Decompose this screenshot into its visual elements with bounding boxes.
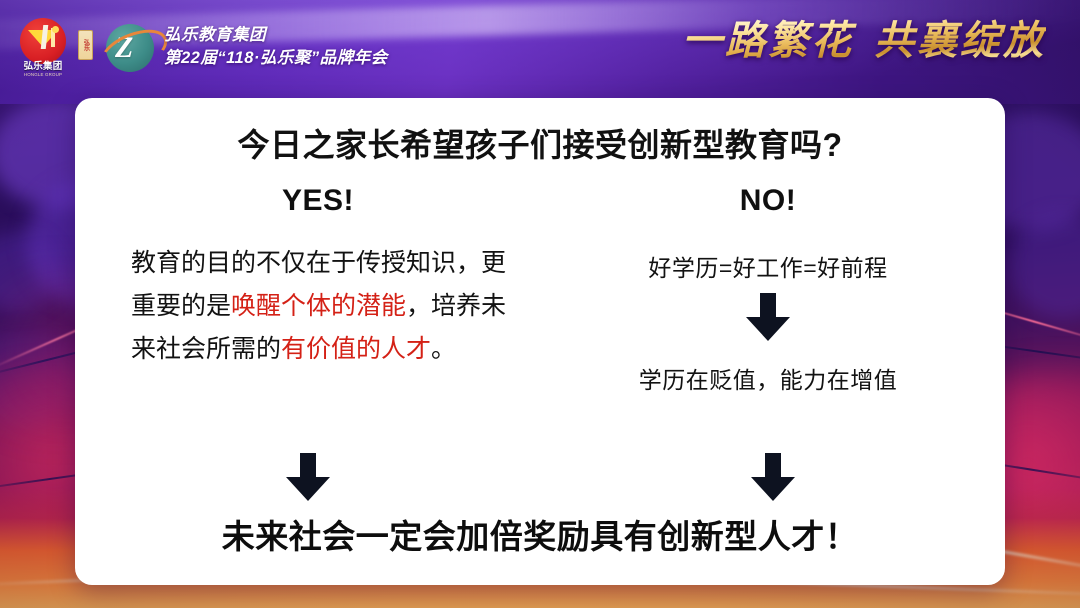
mini-banner-label: 弘乐 <box>83 39 89 51</box>
content-card: 今日之家长希望孩子们接受创新型教育吗? YES! 教育的目的不仅在于传授知识，更… <box>75 98 1005 585</box>
column-yes: YES! 教育的目的不仅在于传授知识，更重要的是唤醒个体的潜能，培养未来社会所需… <box>93 184 543 371</box>
event-slogan: 一路繁花共襄绽放 <box>682 18 1046 64</box>
hongle-logo-disc <box>20 18 66 64</box>
hongle-logo-name: 弘乐集团 <box>14 62 72 72</box>
column-no: NO! 好学历=好工作=好前程 学历在贬值，能力在增值 <box>543 184 993 395</box>
logo-group: 弘乐集团 HONGLE GROUP 弘乐 Z <box>14 18 162 80</box>
down-arrow-icon-bottom-left <box>280 451 336 503</box>
page-title: 今日之家长希望孩子们接受创新型教育吗? <box>75 120 1005 166</box>
secondary-brand-logo: Z <box>100 20 162 78</box>
yes-body-text: 教育的目的不仅在于传授知识，更重要的是唤醒个体的潜能，培养未来社会所需的有价值的… <box>93 242 543 371</box>
yes-heading: YES! <box>93 184 543 218</box>
no-statement-text: 好学历=好工作=好前程 <box>543 249 993 283</box>
down-arrow-icon-bottom-right <box>745 451 801 503</box>
hongle-logo-subtitle: HONGLE GROUP <box>14 72 72 77</box>
bottom-arrow-slot-right <box>540 451 1005 503</box>
conclusion-text: 未来社会一定会加倍奖励具有创新型人才！ <box>75 510 1005 558</box>
yes-body-seg-4: 。 <box>431 335 456 363</box>
yes-body-seg-3-highlight: 有价值的人才 <box>281 335 431 363</box>
bottom-arrow-row <box>75 451 1005 503</box>
yes-body-seg-1-highlight: 唤醒个体的潜能 <box>231 292 406 320</box>
organization-name: 弘乐教育集团 <box>164 24 388 47</box>
slogan-part-1: 一路繁花 <box>682 17 854 64</box>
event-name: 第22届“118·弘乐聚”品牌年会 <box>164 47 388 70</box>
hongle-logo-dot <box>52 26 59 33</box>
slide-header: 弘乐集团 HONGLE GROUP 弘乐 Z 弘乐教育集团 第22届“118·弘… <box>0 0 1080 100</box>
hongle-group-logo: 弘乐集团 HONGLE GROUP <box>14 18 72 80</box>
no-result-text: 学历在贬值，能力在增值 <box>543 361 993 395</box>
bottom-arrow-slot-left <box>75 451 540 503</box>
slogan-part-2: 共襄绽放 <box>874 17 1046 64</box>
event-title-block: 弘乐教育集团 第22届“118·弘乐聚”品牌年会 <box>164 24 388 71</box>
mini-banner-badge: 弘乐 <box>78 30 93 60</box>
slide-canvas: 弘乐集团 HONGLE GROUP 弘乐 Z 弘乐教育集团 第22届“118·弘… <box>0 0 1080 608</box>
down-arrow-icon-right-middle <box>740 291 796 343</box>
no-heading: NO! <box>543 184 993 218</box>
